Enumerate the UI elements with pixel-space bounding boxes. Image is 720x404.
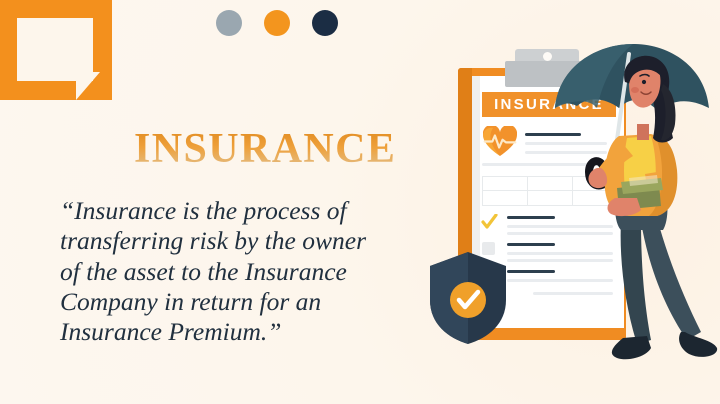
logo-tail [76, 72, 100, 100]
insurance-illustration: INSURANCE [425, 30, 720, 370]
insurance-quote-slide: INSURANCE “Insurance is the process of t… [0, 0, 720, 404]
page-title: INSURANCE [134, 128, 396, 170]
table-cell [482, 176, 528, 192]
table-cell [482, 190, 528, 206]
quote-bubble-logo [0, 0, 112, 100]
woman-with-umbrella [545, 40, 720, 370]
dot-navy [312, 10, 338, 36]
dot-gray [216, 10, 242, 36]
shield-check-badge [430, 252, 506, 344]
checkbox-checked-icon [481, 214, 498, 231]
decorative-dots [216, 10, 338, 36]
quote-text: “Insurance is the process of transferrin… [60, 196, 432, 348]
heart-pulse-icon [483, 126, 517, 157]
dot-orange [264, 10, 290, 36]
